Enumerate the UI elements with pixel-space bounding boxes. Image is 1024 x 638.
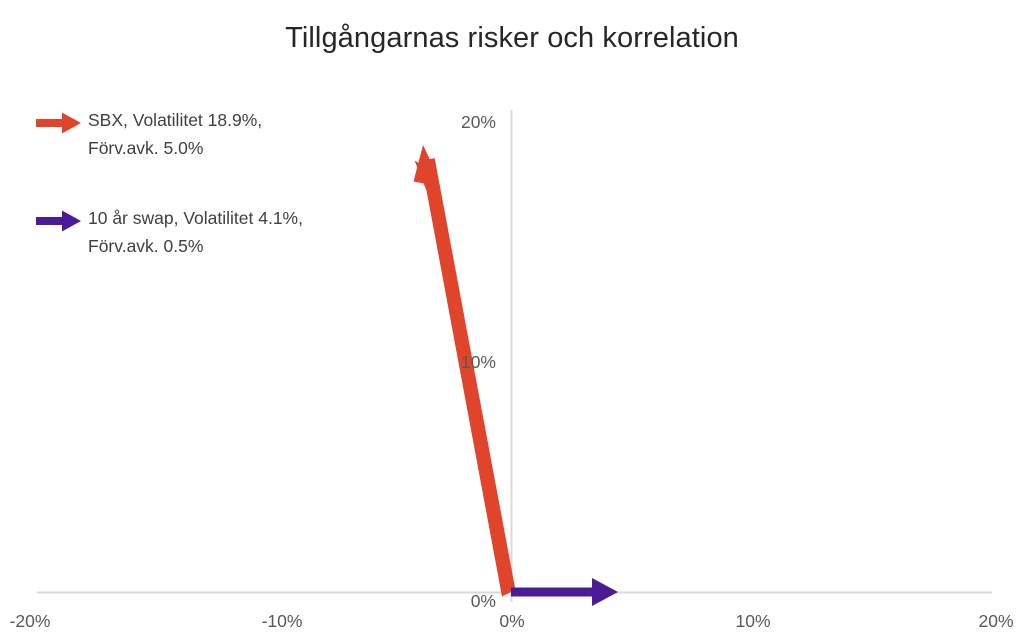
x-tick-label-minus10: -10% [232,611,332,631]
x-tick-label-0: 0% [462,611,562,631]
legend-item-swap[interactable]: 10 år swap, Volatilitet 4.1%, Förv.avk. … [30,204,430,260]
series-arrow-swap [511,578,618,606]
legend-item-label: 10 år swap, Volatilitet 4.1%, Förv.avk. … [88,204,430,260]
right-arrow-icon [36,210,82,232]
x-tick-label-minus20: -20% [0,611,80,631]
x-tick-label-10: 10% [703,611,803,631]
x-tick-label-20: 20% [946,611,1024,631]
y-tick-label-0: 0% [418,591,496,611]
plot-area [0,0,1024,638]
y-tick-label-10: 10% [418,352,496,372]
legend-item-sbx[interactable]: SBX, Volatilitet 18.9%, Förv.avk. 5.0% [30,106,430,162]
chart-canvas: Tillgångarnas risker och korrelation SBX… [0,0,1024,638]
legend-item-label: SBX, Volatilitet 18.9%, Förv.avk. 5.0% [88,106,430,162]
right-arrow-icon [36,112,82,134]
chart-legend: SBX, Volatilitet 18.9%, Förv.avk. 5.0% 1… [30,106,430,284]
y-tick-label-20: 20% [418,112,496,132]
